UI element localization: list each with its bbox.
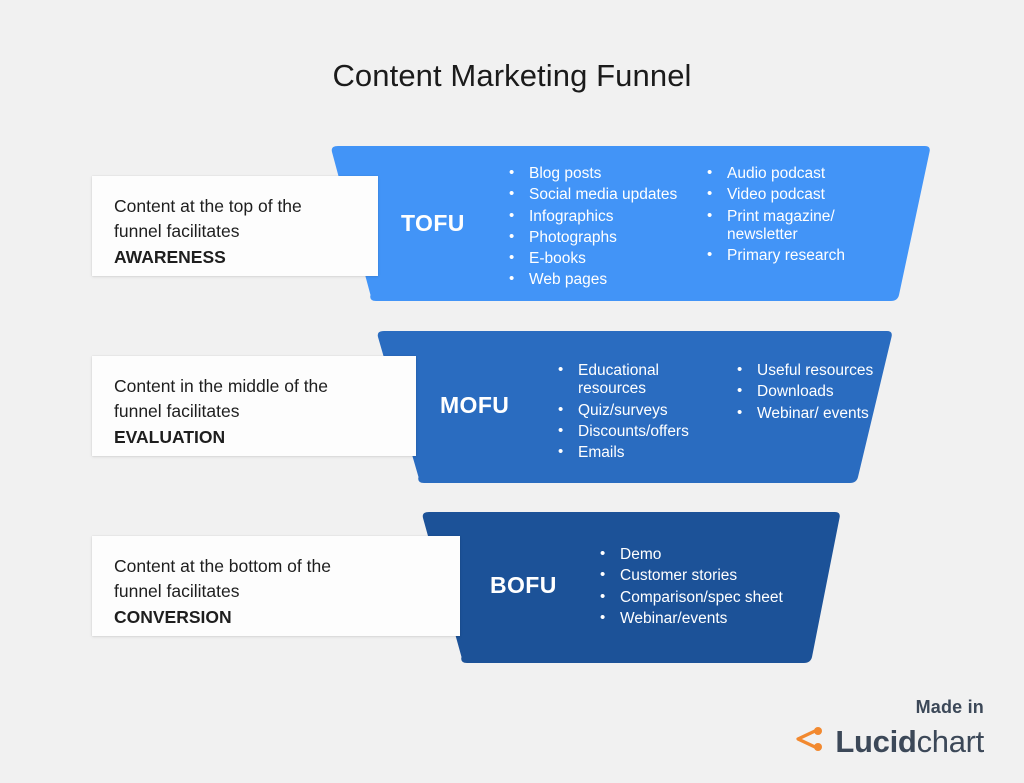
callout-awareness-line1: Content at the top of the [114,194,356,219]
stage-label-mofu: MOFU [440,392,509,419]
list-item: Print magazine/ newsletter [705,208,885,245]
list-item: Comparison/spec sheet [598,589,798,607]
callout-conversion-emphasis: CONVERSION [114,605,438,630]
list-item: Quiz/surveys [556,402,706,420]
callout-evaluation-line1: Content in the middle of the [114,374,394,399]
list-item: E-books [507,250,687,268]
logo-text-lucid: Lucid [835,724,916,759]
list-item: Educational resources [556,362,706,399]
callout-awareness-emphasis: AWARENESS [114,245,356,270]
list-item: Social media updates [507,186,687,204]
list-item: Web pages [507,271,687,289]
list-item: Downloads [735,383,875,401]
list-item: Discounts/offers [556,423,706,441]
mofu-list-column-2: Useful resourcesDownloadsWebinar/ events [735,362,875,426]
list-item: Audio podcast [705,165,885,183]
callout-conversion-line2: funnel facilitates [114,579,438,604]
list-item: Primary research [705,247,885,265]
callout-evaluation: Content in the middle of the funnel faci… [92,356,416,456]
list-item: Webinar/ events [735,405,875,423]
list-item: Webinar/events [598,610,798,628]
callout-evaluation-line2: funnel facilitates [114,399,394,424]
list-item: Demo [598,546,798,564]
list-item: Infographics [507,208,687,226]
bofu-list-column-1: DemoCustomer storiesComparison/spec shee… [598,546,798,631]
list-item: Blog posts [507,165,687,183]
made-in-label: Made in [791,697,984,718]
list-item: Useful resources [735,362,875,380]
list-item: Video podcast [705,186,885,204]
callout-awareness-line2: funnel facilitates [114,219,356,244]
callout-awareness: Content at the top of the funnel facilit… [92,176,378,276]
lucidchart-logo-icon [791,724,825,759]
stage-label-bofu: BOFU [490,572,557,599]
page-title: Content Marketing Funnel [0,58,1024,94]
list-item: Customer stories [598,567,798,585]
callout-evaluation-emphasis: EVALUATION [114,425,394,450]
list-item: Emails [556,444,706,462]
logo-text-chart: chart [917,724,984,759]
callout-conversion-line1: Content at the bottom of the [114,554,438,579]
tofu-list-column-1: Blog postsSocial media updatesInfographi… [507,165,687,293]
tofu-list-column-2: Audio podcastVideo podcastPrint magazine… [705,165,885,268]
diagram-canvas: Content Marketing Funnel Content at the … [0,0,1024,783]
stage-label-tofu: TOFU [401,210,465,237]
mofu-list-column-1: Educational resourcesQuiz/surveysDiscoun… [556,362,706,465]
lucidchart-branding: Made in Lucidchart [791,697,984,759]
list-item: Photographs [507,229,687,247]
callout-conversion: Content at the bottom of the funnel faci… [92,536,460,636]
